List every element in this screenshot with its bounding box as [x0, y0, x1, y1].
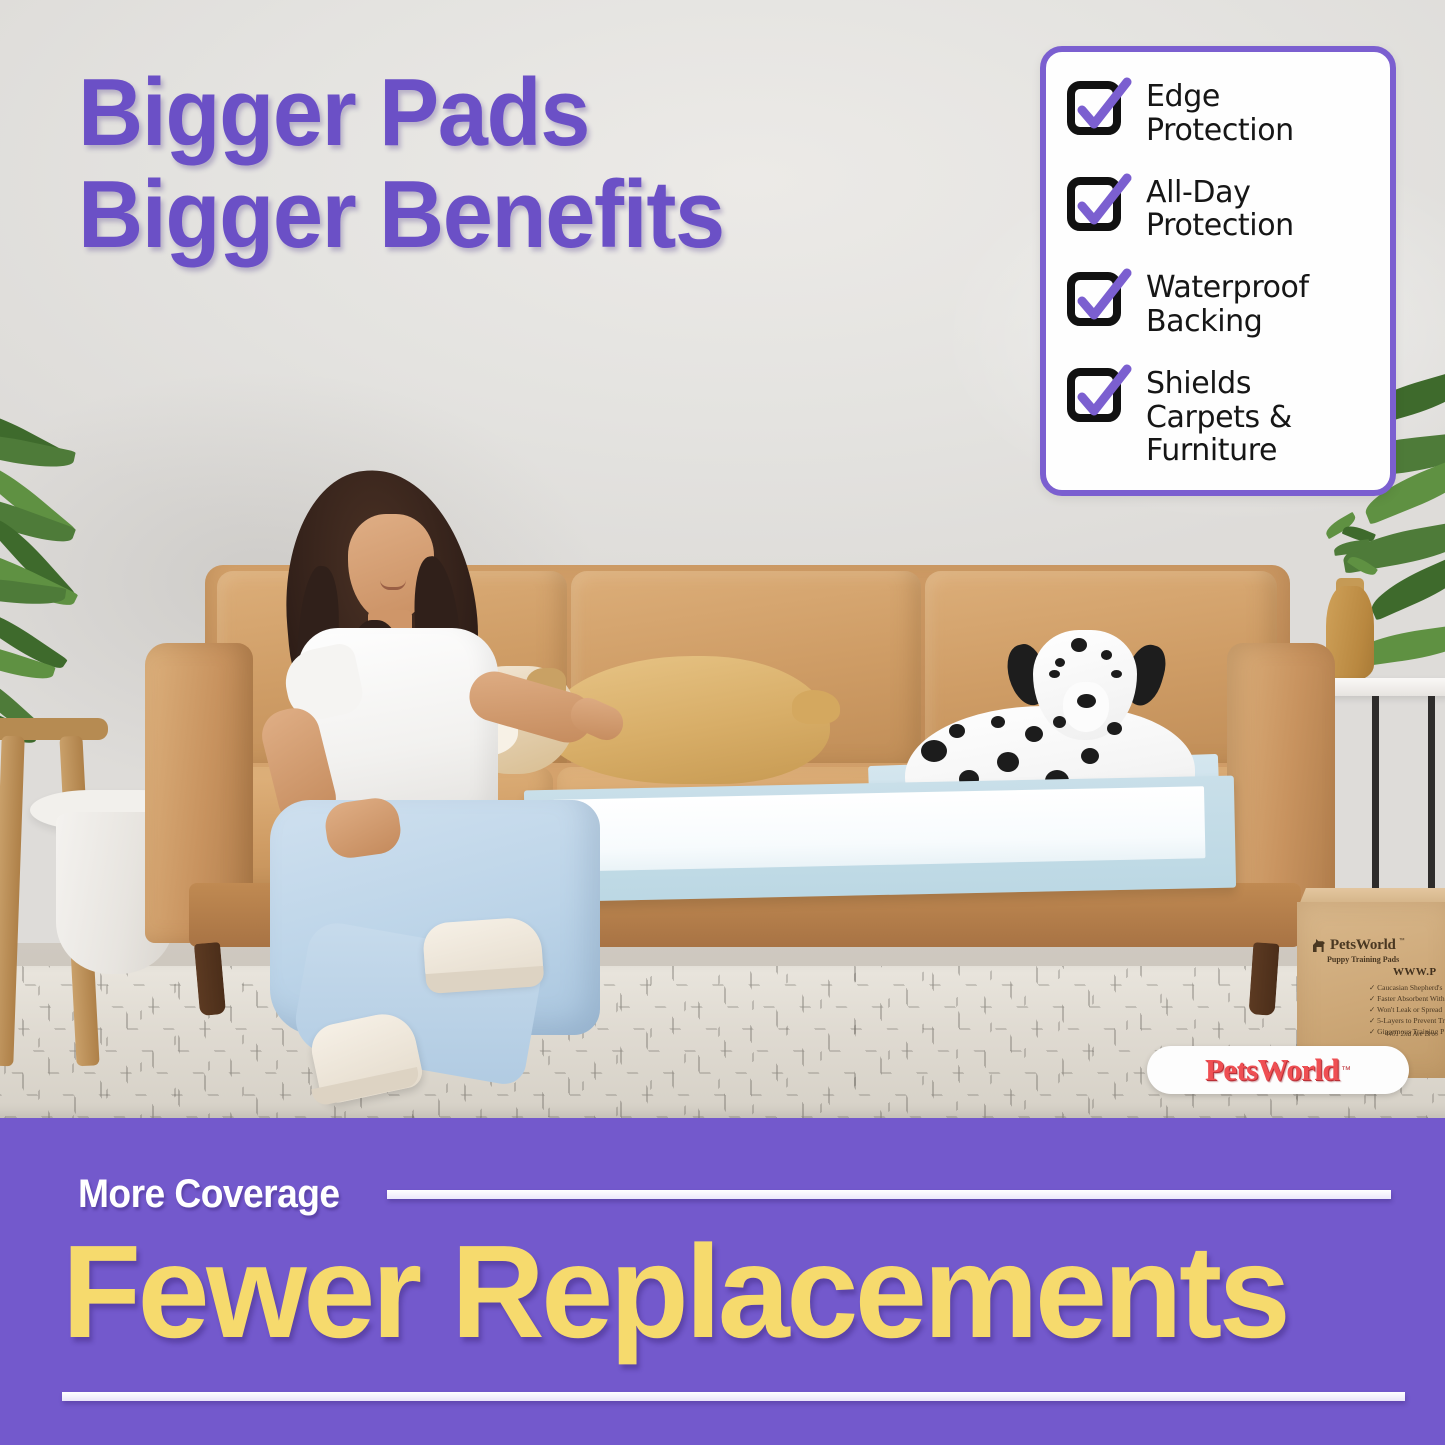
- box-bullet: ✓ Faster Absorbent With: [1369, 994, 1445, 1005]
- banner-divider-top: [387, 1190, 1391, 1199]
- checklist-item-shields-carpets-furniture: Shields Carpets & Furniture: [1068, 365, 1372, 468]
- box-bullet: ✓ Won't Leak or Spread: [1369, 1005, 1445, 1016]
- checklist-item-all-day-protection: All-Day Protection: [1068, 174, 1372, 243]
- checklist-item-edge-protection: Edge Protection: [1068, 78, 1372, 147]
- checkbox-checked-icon: [1068, 367, 1130, 423]
- box-subtitle: Puppy Training Pads: [1327, 955, 1439, 964]
- checklist-label: Waterproof Backing: [1146, 269, 1309, 338]
- box-address: 4401 2nd Ave Bro: [1385, 1030, 1435, 1038]
- banner-kicker-row: More Coverage: [78, 1172, 1391, 1217]
- banner-headline: Fewer Replacements: [62, 1226, 1378, 1358]
- banner-kicker: More Coverage: [78, 1172, 340, 1217]
- box-brand-text: PetsWorld: [1330, 938, 1396, 953]
- box-tm-icon: ™: [1399, 938, 1405, 944]
- logo-brand-text: PetsWorld: [1205, 1052, 1339, 1088]
- headline-line-1: Bigger Pads: [78, 62, 905, 164]
- box-url: WWW.P: [1393, 966, 1436, 978]
- checklist-label: Shields Carpets & Furniture: [1146, 365, 1292, 468]
- benefits-checklist-card: Edge Protection All-Day Protection Water…: [1040, 46, 1396, 496]
- checkbox-checked-icon: [1068, 80, 1130, 136]
- box-bullet: ✓ Caucasian Shepherd's: [1369, 983, 1445, 994]
- checklist-label: All-Day Protection: [1146, 174, 1294, 243]
- product-infographic: PetsWorld ™ Puppy Training Pads WWW.P ✓ …: [0, 0, 1445, 1445]
- banner-divider-bottom: [62, 1392, 1405, 1401]
- dog-silhouette-icon: [1311, 938, 1327, 953]
- checklist-label: Edge Protection: [1146, 78, 1294, 147]
- checklist-item-waterproof-backing: Waterproof Backing: [1068, 269, 1372, 338]
- petsworld-logo: PetsWorld ™: [1147, 1046, 1409, 1094]
- box-bullet: ✓ 5-Layers to Prevent Tra: [1369, 1016, 1445, 1027]
- woman-on-sofa: [240, 470, 660, 1118]
- headline-line-2: Bigger Benefits: [78, 164, 905, 266]
- box-logo: PetsWorld ™ Puppy Training Pads: [1311, 938, 1439, 964]
- logo-tm-icon: ™: [1341, 1065, 1351, 1076]
- checkbox-checked-icon: [1068, 271, 1130, 327]
- page-title: Bigger Pads Bigger Benefits: [78, 62, 905, 266]
- bottom-banner: More Coverage Fewer Replacements: [0, 1118, 1445, 1445]
- checkbox-checked-icon: [1068, 176, 1130, 232]
